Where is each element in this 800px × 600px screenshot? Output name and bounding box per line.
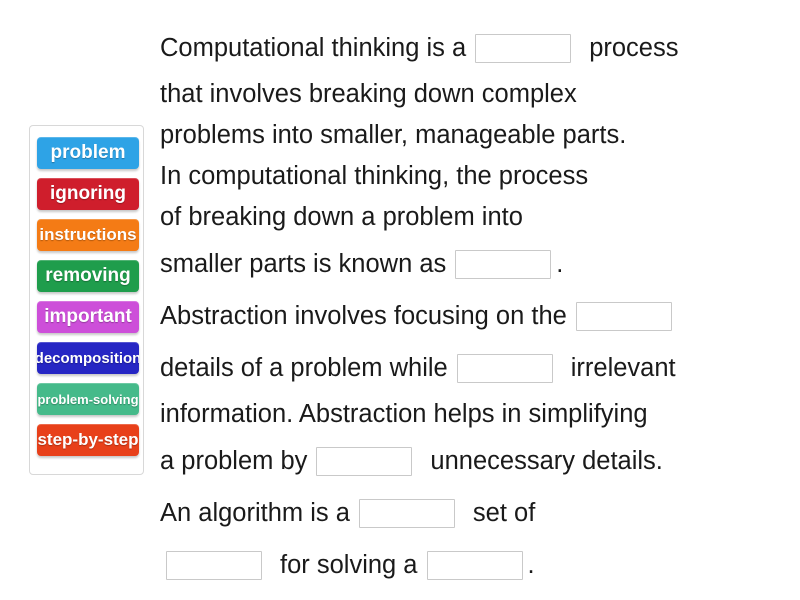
word-tile[interactable]: step-by-step xyxy=(37,424,139,456)
cloze-text-segment: . xyxy=(528,545,535,586)
cloze-blank-dropzone[interactable] xyxy=(455,250,551,279)
cloze-line: of breaking down a problem into xyxy=(160,197,780,238)
cloze-blank-dropzone[interactable] xyxy=(359,499,455,528)
word-tile[interactable]: problem xyxy=(37,137,139,169)
word-tile[interactable]: problem-solving xyxy=(37,383,139,415)
word-tile-label: instructions xyxy=(39,225,136,245)
cloze-text-segment: of breaking down a problem into xyxy=(160,197,523,238)
word-bank-panel: problemignoringinstructionsremovingimpor… xyxy=(29,125,144,475)
cloze-text-body: Computational thinking is aprocessthat i… xyxy=(160,22,780,591)
cloze-text-segment: An algorithm is a xyxy=(160,493,350,534)
cloze-line: An algorithm is aset of xyxy=(160,487,780,539)
cloze-blank-dropzone[interactable] xyxy=(166,551,262,580)
word-tile[interactable]: decomposition xyxy=(37,342,139,374)
word-tile-label: decomposition xyxy=(37,350,139,367)
cloze-blank-dropzone[interactable] xyxy=(475,34,571,63)
word-tile-label: problem xyxy=(51,142,126,164)
cloze-text-segment: . xyxy=(556,244,563,285)
cloze-blank-dropzone[interactable] xyxy=(316,447,412,476)
cloze-line: In computational thinking, the process xyxy=(160,156,780,197)
cloze-text-segment: unnecessary details. xyxy=(430,441,662,482)
cloze-text-segment: irrelevant xyxy=(571,348,676,389)
cloze-text-segment: set of xyxy=(473,493,535,534)
word-tile[interactable]: removing xyxy=(37,260,139,292)
word-tile-label: ignoring xyxy=(50,183,126,205)
cloze-line: smaller parts is known as. xyxy=(160,238,780,290)
cloze-text-segment: problems into smaller, manageable parts. xyxy=(160,115,626,156)
word-tile[interactable]: important xyxy=(37,301,139,333)
cloze-blank-dropzone[interactable] xyxy=(457,354,553,383)
cloze-line: problems into smaller, manageable parts. xyxy=(160,115,780,156)
word-bank-list: problemignoringinstructionsremovingimpor… xyxy=(37,137,139,456)
cloze-line: Computational thinking is aprocess xyxy=(160,22,780,74)
cloze-text-segment: a problem by xyxy=(160,441,307,482)
cloze-text-segment: for solving a xyxy=(280,545,418,586)
cloze-text-segment: that involves breaking down complex xyxy=(160,74,577,115)
word-tile[interactable]: ignoring xyxy=(37,178,139,210)
word-tile-label: removing xyxy=(45,265,131,287)
cloze-line: for solving a. xyxy=(160,539,780,591)
cloze-line: a problem byunnecessary details. xyxy=(160,435,780,487)
cloze-text-segment: Computational thinking is a xyxy=(160,28,466,69)
cloze-line: details of a problem whileirrelevant xyxy=(160,342,780,394)
cloze-text-segment: smaller parts is known as xyxy=(160,244,446,285)
cloze-blank-dropzone[interactable] xyxy=(427,551,523,580)
word-tile-label: problem-solving xyxy=(37,392,138,407)
cloze-text-segment: process xyxy=(589,28,678,69)
cloze-text-segment: details of a problem while xyxy=(160,348,448,389)
word-tile-label: important xyxy=(44,306,132,328)
cloze-text-segment: In computational thinking, the process xyxy=(160,156,588,197)
cloze-line: information. Abstraction helps in simpli… xyxy=(160,394,780,435)
cloze-text-segment: Abstraction involves focusing on the xyxy=(160,296,567,337)
cloze-line: Abstraction involves focusing on the xyxy=(160,290,780,342)
cloze-line: that involves breaking down complex xyxy=(160,74,780,115)
cloze-blank-dropzone[interactable] xyxy=(576,302,672,331)
word-tile[interactable]: instructions xyxy=(37,219,139,251)
word-tile-label: step-by-step xyxy=(37,430,138,450)
cloze-text-segment: information. Abstraction helps in simpli… xyxy=(160,394,648,435)
